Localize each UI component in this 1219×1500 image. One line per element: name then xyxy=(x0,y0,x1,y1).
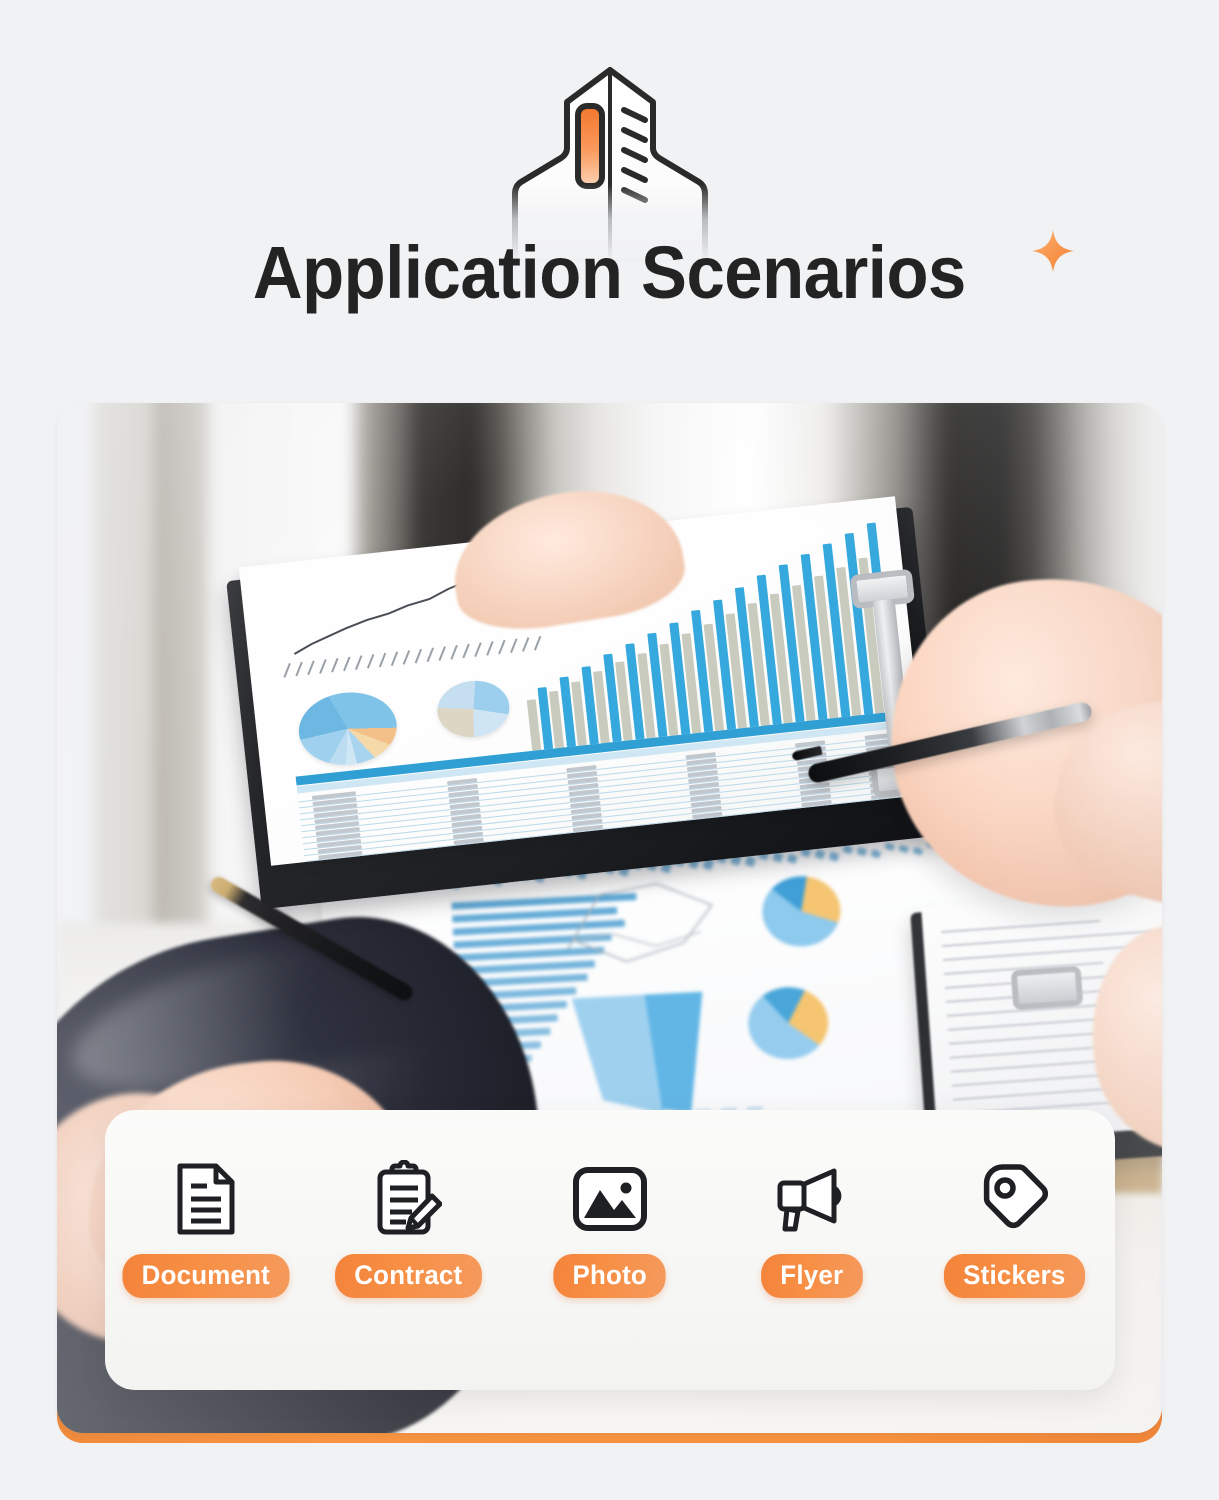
scenario-features-row: Document xyxy=(105,1158,1115,1298)
feature-label-photo[interactable]: Photo xyxy=(554,1254,667,1298)
sparkle-star-icon xyxy=(1030,228,1076,274)
application-scenarios-page: Application Scenarios xyxy=(0,0,1219,1500)
feature-label-stickers[interactable]: Stickers xyxy=(944,1254,1085,1298)
photo-pie-chart-a xyxy=(761,874,843,948)
photo-report-pie-2 xyxy=(435,677,513,740)
document-icon xyxy=(174,1158,238,1240)
scenario-features-card: Document xyxy=(105,1110,1115,1390)
photo-second-clip-metal xyxy=(1011,966,1084,1011)
photo-report-pie-1 xyxy=(295,688,400,770)
flyer-megaphone-icon xyxy=(772,1158,852,1240)
photo-pie-chart-b xyxy=(746,985,830,1061)
feature-label-flyer[interactable]: Flyer xyxy=(761,1254,862,1298)
feature-label-document[interactable]: Document xyxy=(123,1254,290,1298)
feature-stickers[interactable]: Stickers xyxy=(919,1158,1109,1298)
feature-flyer[interactable]: Flyer xyxy=(717,1158,907,1298)
page-title: Application Scenarios xyxy=(253,236,966,310)
feature-photo[interactable]: Photo xyxy=(515,1158,705,1298)
feature-contract[interactable]: Contract xyxy=(313,1158,503,1298)
photo-image-icon xyxy=(572,1158,648,1240)
contract-clipboard-pencil-icon xyxy=(374,1158,442,1240)
feature-label-contract[interactable]: Contract xyxy=(335,1254,482,1298)
feature-document[interactable]: Document xyxy=(111,1158,301,1298)
stickers-tag-icon xyxy=(979,1158,1049,1240)
page-header: Application Scenarios xyxy=(0,0,1219,390)
